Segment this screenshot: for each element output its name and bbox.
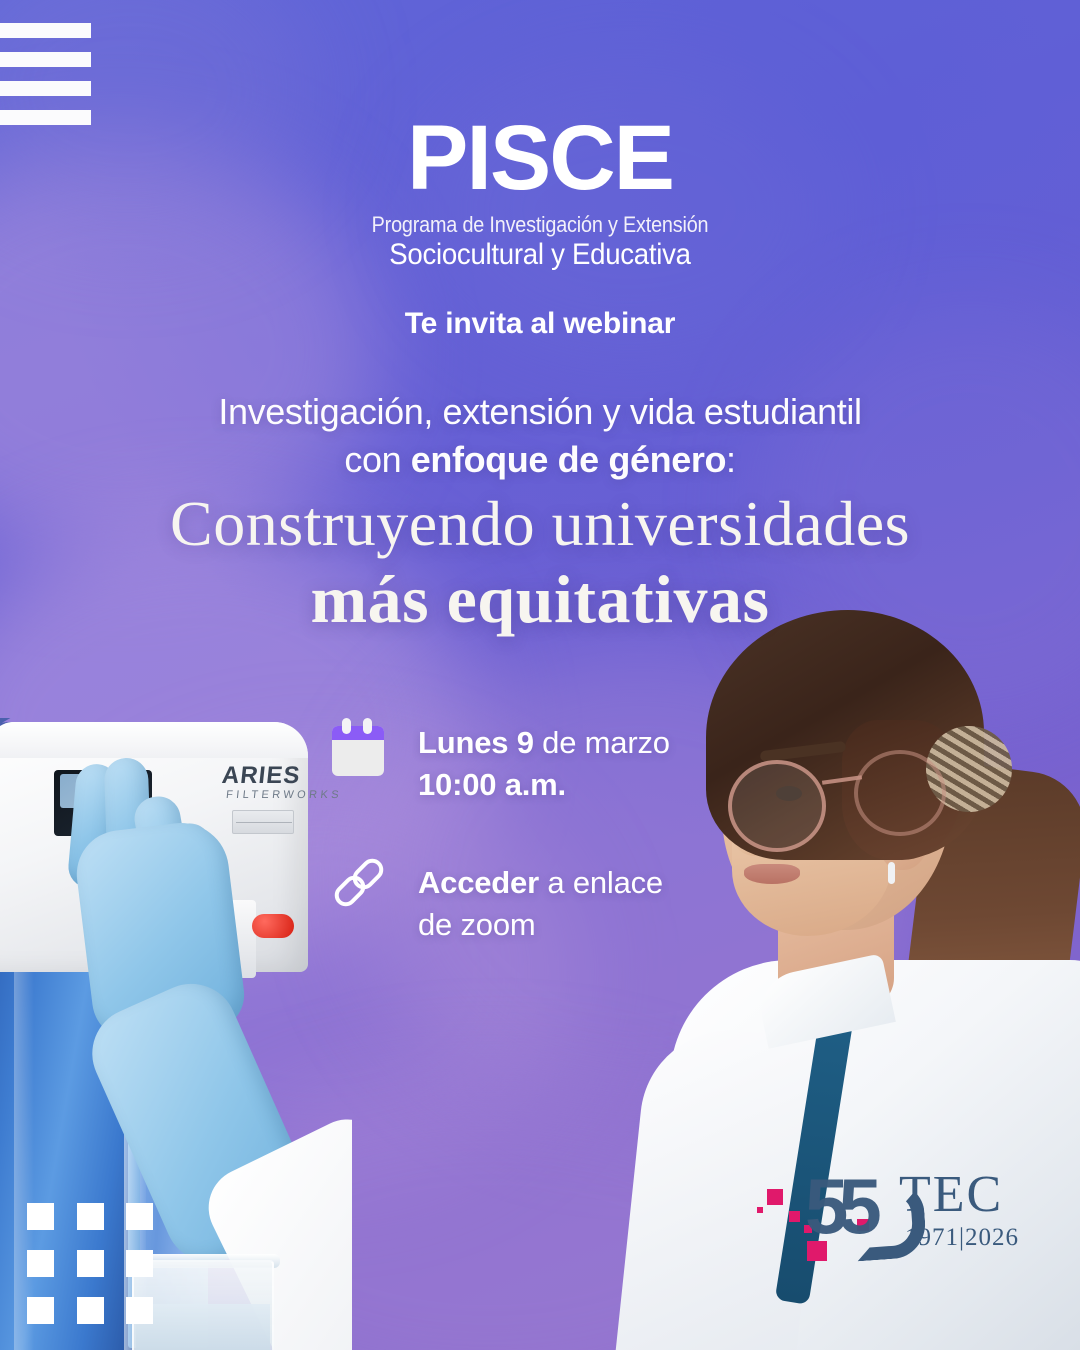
tec-anniversary-logo: 55 TEC 1971|2026 xyxy=(757,1163,987,1273)
link-icon[interactable] xyxy=(332,858,388,920)
tec-years-range: 1971|2026 xyxy=(905,1225,1019,1250)
logo-main-text: PISCE xyxy=(407,107,673,209)
calendar-ring xyxy=(363,718,372,734)
event-link-line1[interactable]: Acceder a enlace xyxy=(418,862,663,904)
calendar-icon xyxy=(332,718,388,780)
checker-square xyxy=(77,1297,104,1324)
webinar-title-line2: más equitativas xyxy=(0,562,1080,636)
calendar-header-bar xyxy=(332,726,384,740)
lede-prefix: con xyxy=(344,439,410,480)
checker-square xyxy=(27,1250,54,1277)
hamburger-bar xyxy=(0,81,91,96)
checker-square xyxy=(126,1203,153,1230)
checker-square xyxy=(77,1250,104,1277)
event-link-bold[interactable]: Acceder xyxy=(418,865,539,900)
event-date-line1: Lunes 9 de marzo xyxy=(418,722,670,764)
event-time-bold: 10:00 a.m. xyxy=(418,767,566,802)
poster-content: PISCE y Programa de Investigación y Exte… xyxy=(0,0,1080,1350)
tec-wordmark: TEC xyxy=(899,1169,1003,1221)
webinar-title-line1: Construyendo universidades xyxy=(0,488,1080,560)
lede-line-1: Investigación, extensión y vida estudian… xyxy=(0,388,1080,436)
lede-paragraph: Investigación, extensión y vida estudian… xyxy=(0,388,1080,484)
event-link-text[interactable]: Acceder a enlace de zoom xyxy=(418,858,663,946)
invite-line: Te invita al webinar xyxy=(0,305,1080,343)
event-link-rest: a enlace xyxy=(539,865,663,900)
hamburger-bar xyxy=(0,23,91,38)
calendar-ring xyxy=(342,718,351,734)
event-time: 10:00 a.m. xyxy=(418,764,670,806)
checker-square xyxy=(27,1297,54,1324)
poster-canvas: PHOENIX CITATION ARIES FILTERWORKS xyxy=(0,0,1080,1350)
event-link-row[interactable]: Acceder a enlace de zoom xyxy=(332,858,670,946)
event-day-bold: Lunes 9 xyxy=(418,725,534,760)
pixel-square xyxy=(767,1189,783,1205)
lede-bold: enfoque de género xyxy=(411,439,726,480)
event-details: Lunes 9 de marzo 10:00 a.m. Acceder a en… xyxy=(332,718,670,998)
pixel-square xyxy=(757,1207,763,1213)
event-month: de marzo xyxy=(534,725,670,760)
lede-line-2: con enfoque de género: xyxy=(0,436,1080,484)
logo-wordmark: PISCE y xyxy=(407,112,673,204)
checker-square xyxy=(126,1297,153,1324)
event-date-row: Lunes 9 de marzo 10:00 a.m. xyxy=(332,718,670,806)
pisce-logo: PISCE y Programa de Investigación y Exte… xyxy=(0,112,1080,272)
checker-square xyxy=(27,1203,54,1230)
chain-link-glyph xyxy=(334,864,386,916)
logo-subtitle-line2: Sociocultural y Educativa xyxy=(43,238,1037,272)
checker-square xyxy=(126,1250,153,1277)
event-date-text: Lunes 9 de marzo 10:00 a.m. xyxy=(418,718,670,806)
hamburger-bar xyxy=(0,52,91,67)
checker-square xyxy=(77,1203,104,1230)
event-link-line2: de zoom xyxy=(418,904,663,946)
webinar-title: Construyendo universidades más equitativ… xyxy=(0,488,1080,636)
pixel-square xyxy=(789,1211,800,1222)
logo-subtitle-line1: Programa de Investigación y Extensión xyxy=(54,212,1026,238)
lede-suffix: : xyxy=(726,439,736,480)
